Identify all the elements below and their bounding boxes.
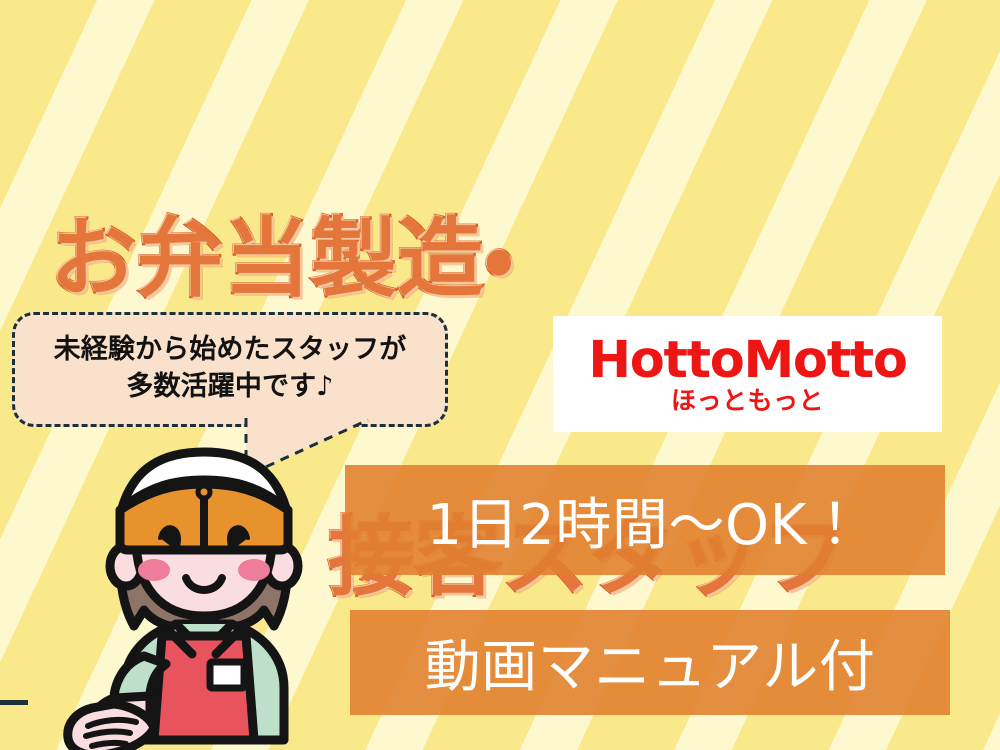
badge-working-hours: 1日2時間〜OK！ [345, 465, 945, 575]
badge-working-hours-label: 1日2時間〜OK！ [426, 480, 863, 561]
decorative-dash [0, 700, 28, 705]
brand-logo-wordmark: HottoMotto [588, 335, 906, 386]
brand-logo-card: HottoMotto ほっともっと [553, 316, 942, 432]
badge-video-manual-label: 動画マニュアル付 [425, 622, 876, 703]
speech-bubble-line-2: 多数活躍中です♪ [25, 368, 435, 405]
speech-bubble-line-1: 未経験から始めたスタッフが [25, 331, 435, 368]
speech-bubble: 未経験から始めたスタッフが 多数活躍中です♪ [12, 312, 448, 427]
headline-line-1: お弁当製造・ [28, 210, 972, 310]
staff-character-illustration [58, 440, 358, 750]
speech-bubble-body: 未経験から始めたスタッフが 多数活躍中です♪ [12, 312, 448, 427]
brand-logo-kana: ほっともっと [671, 388, 824, 413]
badge-video-manual: 動画マニュアル付 [350, 610, 950, 715]
recruitment-poster: お弁当製造・ 接客スタッフ 未経験から始めたスタッフが 多数活躍中です♪ Hot… [0, 0, 1000, 750]
